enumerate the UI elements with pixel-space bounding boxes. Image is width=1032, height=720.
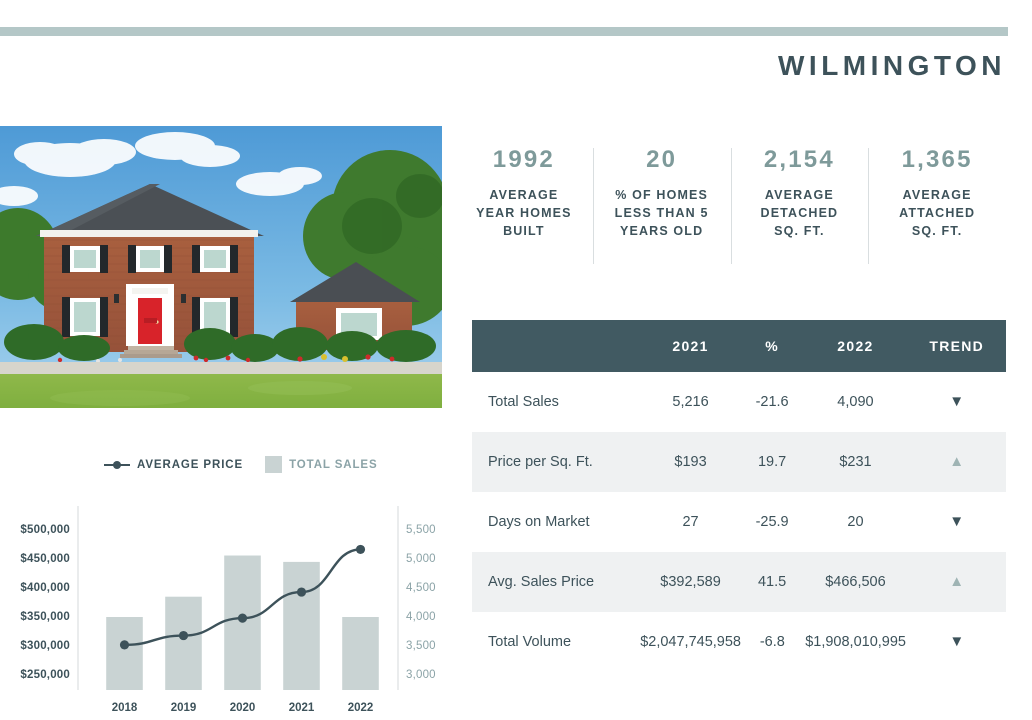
stat-value: 1992: [461, 148, 587, 172]
price-and-sales-chart: AVERAGE PRICE TOTAL SALES $250,000$300,0…: [0, 440, 450, 690]
cell-percent: 41.5: [741, 574, 804, 590]
cell-percent: -21.6: [741, 394, 804, 410]
left-axis-tick: $500,000: [20, 524, 70, 536]
row-label: Total Volume: [472, 634, 640, 650]
x-axis-tick: 2021: [289, 702, 315, 714]
key-stats-row: 1992 AVERAGE YEAR HOMES BUILT 20 % OF HO…: [455, 148, 1006, 264]
cell-percent: -6.8: [741, 634, 804, 650]
chart-bar: [342, 617, 379, 690]
cell-2022: $1,908,010,995: [804, 634, 908, 650]
right-axis-tick: 4,000: [406, 611, 436, 623]
cell-trend: ▼: [908, 634, 1006, 650]
right-axis-tick: 5,000: [406, 553, 436, 565]
cell-2021: $2,047,745,958: [640, 634, 741, 650]
trend-up-icon: ▲: [949, 574, 964, 589]
page-title: WILMINGTON: [778, 52, 1006, 80]
stat-card-average-year-built: 1992 AVERAGE YEAR HOMES BUILT: [455, 148, 593, 264]
right-axis-tick: 3,000: [406, 669, 436, 681]
stat-label: AVERAGE DETACHED SQ. FT.: [737, 186, 863, 240]
table-row: Total Volume $2,047,745,958 -6.8 $1,908,…: [472, 612, 1006, 672]
x-axis-tick: 2018: [112, 702, 138, 714]
cell-trend: ▼: [907, 514, 1006, 530]
stat-card-pct-homes-less-than-5-years: 20 % OF HOMES LESS THAN 5 YEARS OLD: [593, 148, 731, 264]
chart-bar: [224, 556, 261, 690]
column-header-2022: 2022: [803, 338, 907, 354]
cell-percent: 19.7: [741, 454, 804, 470]
row-label: Days on Market: [472, 514, 640, 530]
left-axis-tick: $450,000: [20, 553, 70, 565]
column-header-2021: 2021: [640, 338, 740, 354]
chart-line-point: [297, 587, 306, 596]
chart-line-point: [179, 631, 188, 640]
chart-line-point: [356, 545, 365, 554]
table-row: Price per Sq. Ft. $193 19.7 $231 ▲: [472, 432, 1006, 492]
cell-2022: $466,506: [803, 574, 907, 590]
left-axis-tick: $250,000: [20, 669, 70, 681]
stat-card-average-detached-sqft: 2,154 AVERAGE DETACHED SQ. FT.: [731, 148, 869, 264]
cell-2022: 20: [803, 514, 907, 530]
table-row: Days on Market 27 -25.9 20 ▼: [472, 492, 1006, 552]
chart-line-point: [120, 640, 129, 649]
chart-bar: [106, 617, 143, 690]
x-axis-tick: 2022: [348, 702, 374, 714]
cell-2021: 27: [640, 514, 740, 530]
cell-trend: ▲: [907, 574, 1006, 590]
right-axis-tick: 5,500: [406, 524, 436, 536]
bar-swatch-icon: [265, 456, 282, 473]
stat-value: 1,365: [874, 148, 1000, 172]
stat-value: 20: [599, 148, 725, 172]
row-label: Total Sales: [472, 394, 640, 410]
left-axis-tick: $400,000: [20, 582, 70, 594]
stat-value: 2,154: [737, 148, 863, 172]
stat-label: AVERAGE YEAR HOMES BUILT: [461, 186, 587, 240]
chart-plot-area: $250,000$300,000$350,000$400,000$450,000…: [0, 480, 450, 690]
row-label: Price per Sq. Ft.: [472, 454, 640, 470]
table-row: Avg. Sales Price $392,589 41.5 $466,506 …: [472, 552, 1006, 612]
left-axis-tick: $350,000: [20, 611, 70, 623]
legend-label: TOTAL SALES: [289, 459, 378, 471]
left-axis-tick: $300,000: [20, 640, 70, 652]
chart-line-point: [238, 614, 247, 623]
cell-trend: ▼: [907, 394, 1006, 410]
table-row: Total Sales 5,216 -21.6 4,090 ▼: [472, 372, 1006, 432]
right-axis-tick: 3,500: [406, 640, 436, 652]
cell-2021: $392,589: [640, 574, 740, 590]
chart-bar: [165, 597, 202, 690]
line-marker-icon: [104, 460, 130, 470]
legend-item-total-sales: TOTAL SALES: [265, 456, 378, 473]
trend-down-icon: ▼: [949, 394, 964, 409]
table-header-row: 2021 % 2022 TREND: [472, 320, 1006, 372]
cell-2021: 5,216: [640, 394, 740, 410]
trend-down-icon: ▼: [949, 514, 964, 529]
property-photo: [0, 126, 442, 408]
trend-up-icon: ▲: [949, 454, 964, 469]
stat-card-average-attached-sqft: 1,365 AVERAGE ATTACHED SQ. FT.: [868, 148, 1006, 264]
market-comparison-table: 2021 % 2022 TREND Total Sales 5,216 -21.…: [472, 320, 1006, 672]
chart-legend: AVERAGE PRICE TOTAL SALES: [104, 456, 378, 473]
right-axis-tick: 4,500: [406, 582, 436, 594]
cell-2022: $231: [803, 454, 907, 470]
stat-label: AVERAGE ATTACHED SQ. FT.: [874, 186, 1000, 240]
top-accent-bar: [0, 27, 1008, 36]
row-label: Avg. Sales Price: [472, 574, 640, 590]
column-header-percent: %: [741, 338, 804, 354]
trend-down-icon: ▼: [949, 634, 964, 649]
cell-2022: 4,090: [803, 394, 907, 410]
cell-percent: -25.9: [741, 514, 804, 530]
column-header-trend: TREND: [907, 338, 1006, 354]
cell-trend: ▲: [907, 454, 1006, 470]
chart-bar: [283, 562, 320, 690]
x-axis-tick: 2019: [171, 702, 197, 714]
stat-label: % OF HOMES LESS THAN 5 YEARS OLD: [599, 186, 725, 240]
legend-label: AVERAGE PRICE: [137, 459, 243, 471]
cell-2021: $193: [640, 454, 740, 470]
legend-item-average-price: AVERAGE PRICE: [104, 459, 243, 471]
x-axis-tick: 2020: [230, 702, 256, 714]
